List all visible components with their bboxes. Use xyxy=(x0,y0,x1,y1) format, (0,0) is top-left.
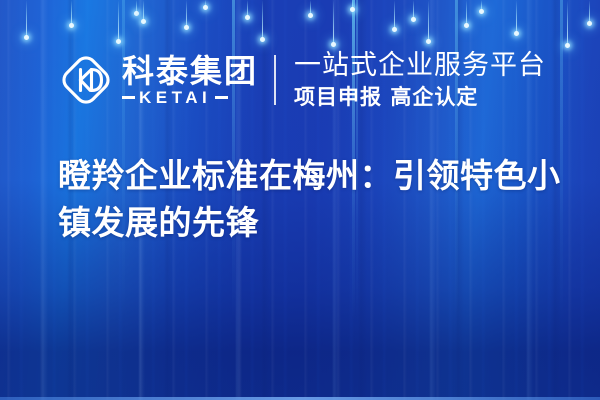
wordmark-dash-right xyxy=(215,96,228,99)
light-particle xyxy=(310,0,311,16)
brand-logo[interactable]: 科泰集团 KETAI xyxy=(58,52,258,108)
light-particle xyxy=(247,0,248,18)
article-title: 瞪羚企业标准在梅州：引领特色小镇发展的先锋 xyxy=(58,152,563,246)
light-particle xyxy=(428,0,429,42)
wordmark-dash-left xyxy=(122,96,135,99)
light-particle xyxy=(186,0,187,28)
light-particle xyxy=(143,0,144,22)
light-particle xyxy=(516,0,517,34)
tagline-primary: 一站式企业服务平台 xyxy=(294,51,546,81)
brand-tagline: 一站式企业服务平台 项目申报 高企认定 xyxy=(294,51,546,109)
light-particle xyxy=(205,0,206,8)
tagline-secondary: 项目申报 高企认定 xyxy=(294,85,546,109)
header-divider xyxy=(274,55,276,105)
light-particle xyxy=(352,0,353,10)
light-particle xyxy=(481,0,482,12)
light-particle xyxy=(589,0,590,24)
brand-name-cn: 科泰集团 xyxy=(122,54,258,88)
article-cover-banner: 科泰集团 KETAI 一站式企业服务平台 项目申报 高企认定 瞪羚企业标准在梅州… xyxy=(0,0,600,400)
light-particle xyxy=(136,0,137,14)
banner-header: 科泰集团 KETAI 一站式企业服务平台 项目申报 高企认定 xyxy=(58,44,546,116)
light-particle xyxy=(567,0,568,46)
light-particle xyxy=(394,0,395,30)
light-particle xyxy=(118,0,119,42)
light-particle xyxy=(262,0,263,40)
light-particle xyxy=(26,0,27,38)
brand-wordmark: 科泰集团 KETAI xyxy=(122,54,258,107)
light-particle xyxy=(413,0,414,20)
ketai-diamond-monogram-logo-icon xyxy=(58,52,114,108)
brand-name-en: KETAI xyxy=(139,89,211,107)
light-particle xyxy=(71,0,72,26)
light-particle xyxy=(466,0,467,26)
brand-name-en-row: KETAI xyxy=(122,89,258,107)
light-particle xyxy=(333,0,334,45)
